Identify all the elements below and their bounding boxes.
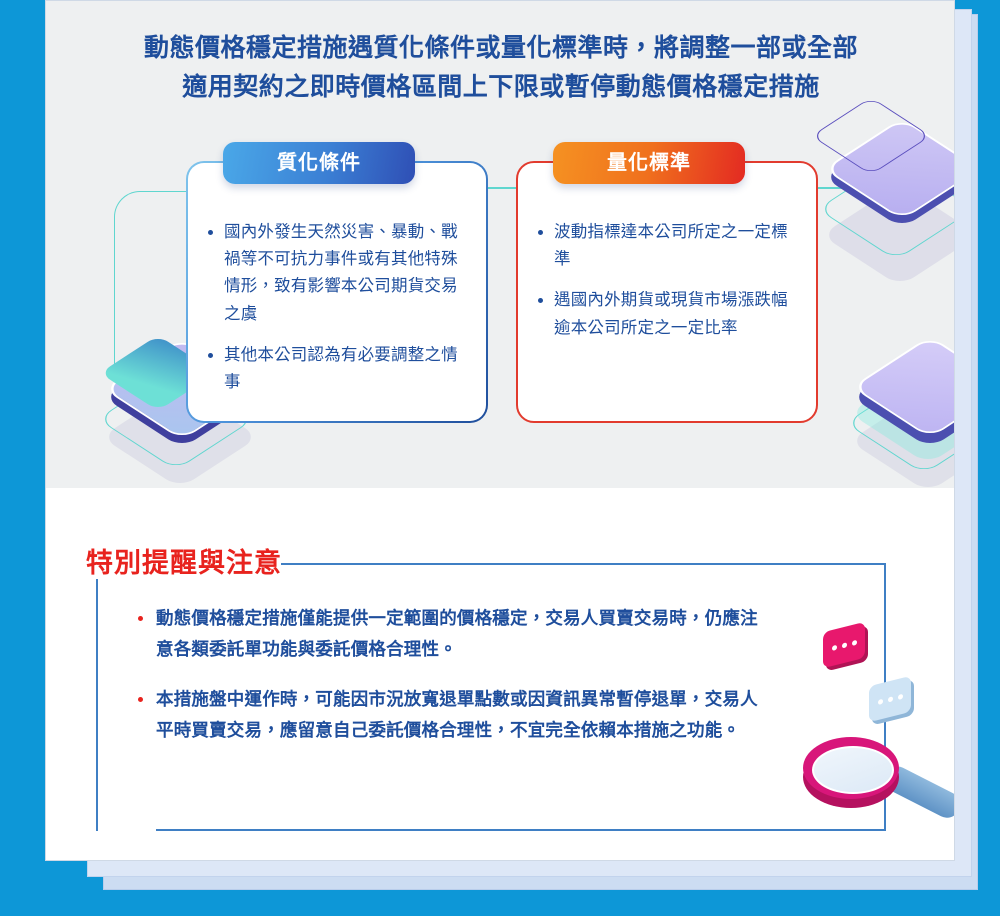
- card-badge-quantitative: 量化標準: [553, 142, 745, 184]
- list-item: 其他本公司認為有必要調整之情事: [204, 342, 470, 396]
- list-item: 本措施盤中運作時，可能因市況放寬退單點數或因資訊異常暫停退單，交易人平時買賣交易…: [134, 684, 774, 745]
- infographic-stage: 動態價格穩定措施遇質化條件或量化標準時，將調整一部或全部 適用契約之即時價格區間…: [0, 0, 1000, 916]
- ellipsis-dots: [823, 638, 865, 653]
- card-qualitative-conditions: 質化條件 國內外發生天然災害、暴動、戰禍等不可抗力事件或有其他特殊情形，致有影響…: [186, 161, 488, 423]
- list-item: 國內外發生天然災害、暴動、戰禍等不可抗力事件或有其他特殊情形，致有影響本公司期貨…: [204, 219, 470, 328]
- page-title: 動態價格穩定措施遇質化條件或量化標準時，將調整一部或全部 適用契約之即時價格區間…: [46, 29, 955, 107]
- magnifier-handle-cap: [954, 815, 955, 831]
- isometric-cube-lavender: [874, 339, 955, 459]
- infographic-page: 動態價格穩定措施遇質化條件或量化標準時，將調整一部或全部 適用契約之即時價格區間…: [45, 0, 955, 861]
- card-quantitative-standards: 量化標準 波動指標達本公司所定之一定標準 遇國內外期貨或現貨市場漲跌幅逾本公司所…: [516, 161, 818, 423]
- card-bullet-list: 國內外發生天然災害、暴動、戰禍等不可抗力事件或有其他特殊情形，致有影響本公司期貨…: [204, 219, 470, 396]
- list-item: 遇國內外期貨或現貨市場漲跌幅逾本公司所定之一定比率: [534, 287, 800, 341]
- headline-line-1: 動態價格穩定措施遇質化條件或量化標準時，將調整一部或全部: [46, 29, 955, 68]
- card-bullet-list: 波動指標達本公司所定之一定標準 遇國內外期貨或現貨市場漲跌幅逾本公司所定之一定比…: [534, 219, 800, 342]
- notice-rule-bottom: [156, 829, 886, 831]
- notice-rule-top: [281, 563, 886, 565]
- notice-title: 特別提醒與注意: [86, 541, 282, 580]
- magnifier-illustration: [791, 619, 955, 849]
- list-item: 動態價格穩定措施僅能提供一定範圍的價格穩定，交易人買賣交易時，仍應注意各類委託單…: [134, 603, 774, 664]
- card-badge-qualitative: 質化條件: [223, 142, 415, 184]
- list-item: 波動指標達本公司所定之一定標準: [534, 219, 800, 273]
- magnifier-icon: [803, 737, 899, 799]
- isometric-cube-stack-purple: [836, 101, 955, 311]
- headline-line-2: 適用契約之即時價格區間上下限或暫停動態價格穩定措施: [46, 68, 955, 107]
- notice-bullet-list: 動態價格穩定措施僅能提供一定範圍的價格穩定，交易人買賣交易時，仍應注意各類委託單…: [134, 603, 774, 766]
- chat-bubble-icon: [823, 622, 865, 668]
- notice-rule-left: [96, 579, 98, 831]
- ellipsis-dots: [869, 692, 911, 707]
- chat-bubble-icon: [869, 676, 911, 722]
